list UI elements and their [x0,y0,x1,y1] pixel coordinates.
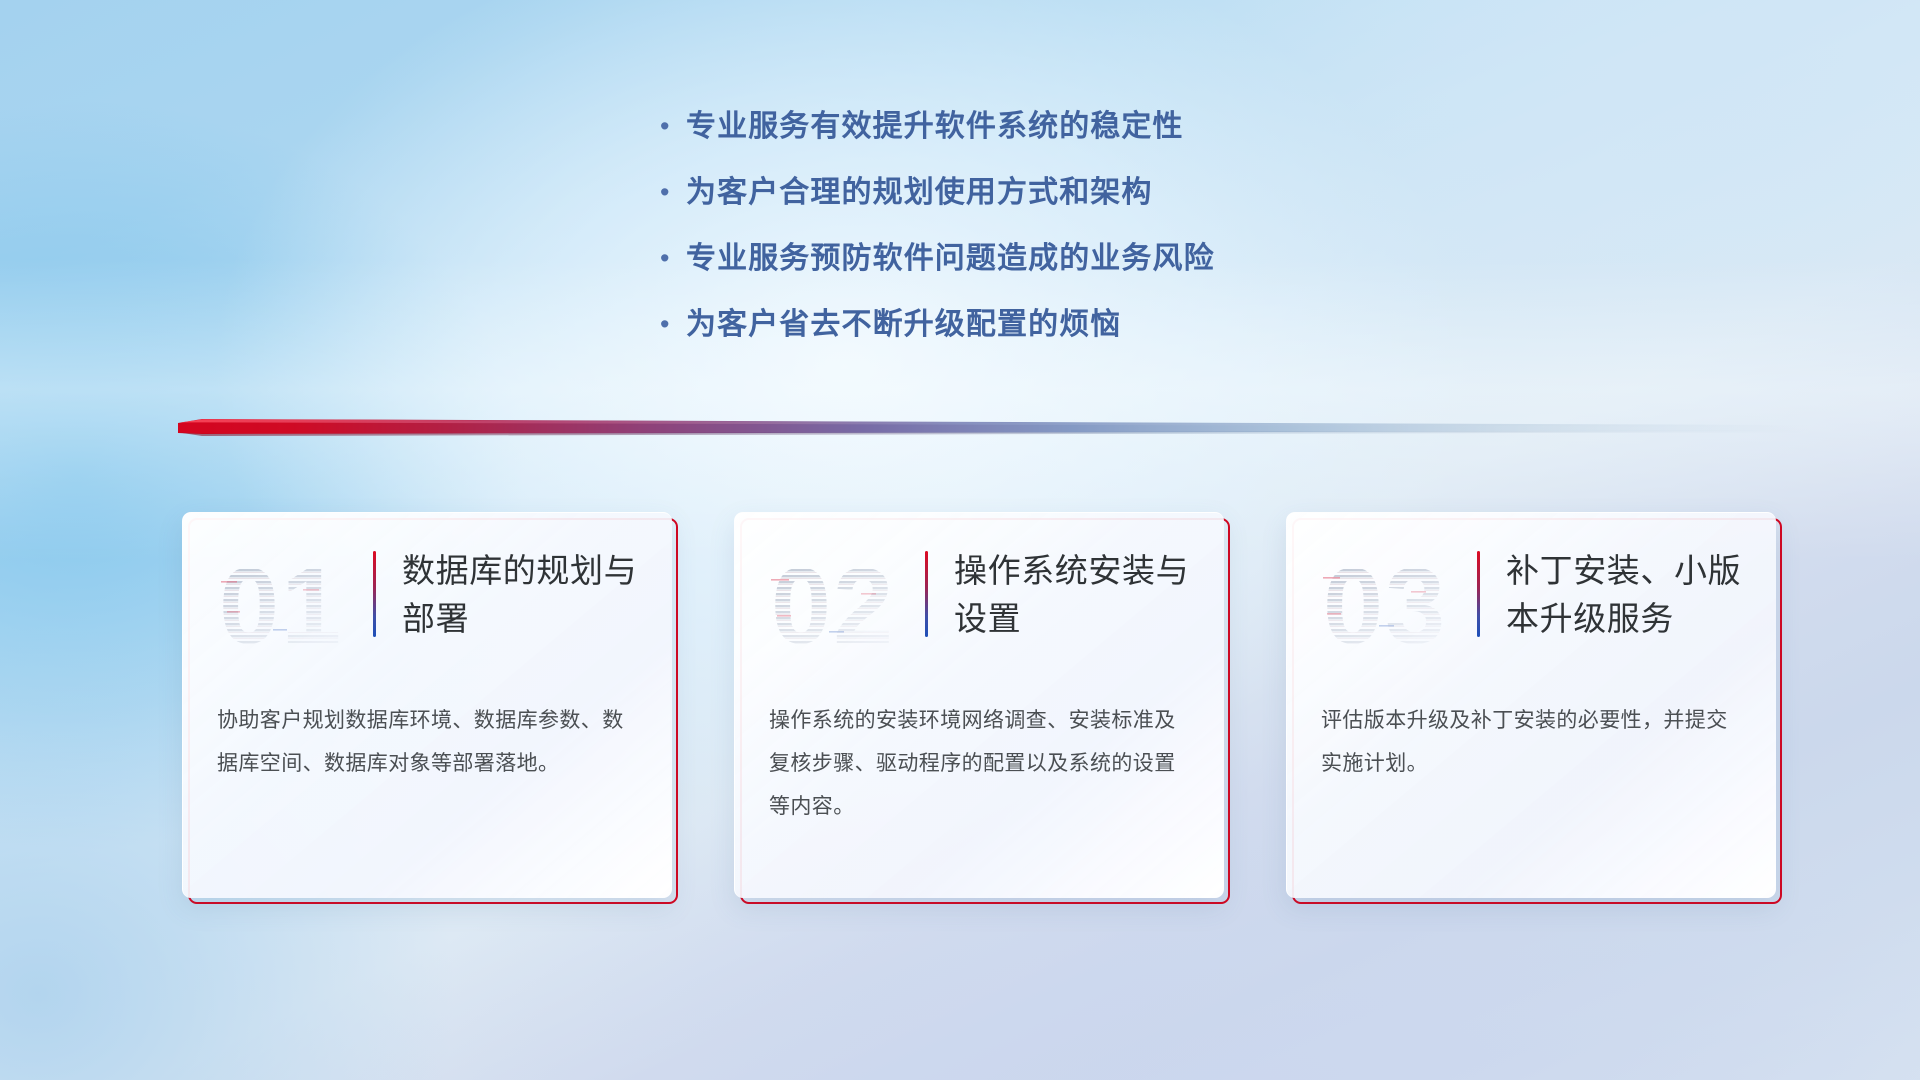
card-header: 03 补丁安装、小版本升级服务 [1321,539,1750,661]
card-body: 02 操作系统安装与设置 操作系统的安装环境网络调查、安装标准及复核步骤、驱动程… [734,512,1224,898]
bullet-dot-icon: • [660,171,686,214]
card-description: 评估版本升级及补丁安装的必要性，并提交实施计划。 [1321,699,1740,785]
striped-numeral-icon: 02 [769,545,915,661]
bullet-item: • 专业服务有效提升软件系统的稳定性 [660,105,1560,148]
striped-numeral-icon: 01 [217,545,363,661]
bullet-item-label: 为客户合理的规划使用方式和架构 [686,171,1153,214]
bullet-dot-icon: • [660,105,686,148]
card-accent-rule [373,551,376,637]
card-title: 补丁安装、小版本升级服务 [1506,539,1750,643]
section-divider [178,418,1808,446]
divider-graphic [178,418,1808,446]
card-header: 01 数据库的规划与部署 [217,539,646,661]
card-body: 01 数据库的规划与部署 协助客户规划数据库环境、数据库参数、数据库空间、数据库… [182,512,672,898]
card-header: 02 操作系统安装与设置 [769,539,1198,661]
bullet-item-label: 为客户省去不断升级配置的烦恼 [686,303,1121,346]
card-title: 操作系统安装与设置 [954,539,1198,643]
service-card-list: 01 数据库的规划与部署 协助客户规划数据库环境、数据库参数、数据库空间、数据库… [182,512,1782,912]
card-description: 协助客户规划数据库环境、数据库参数、数据库空间、数据库对象等部署落地。 [217,699,636,785]
bullet-item-label: 专业服务有效提升软件系统的稳定性 [686,105,1184,148]
card-body: 03 补丁安装、小版本升级服务 评估版本升级及补丁安装的必要性，并提交实施计划。 [1286,512,1776,898]
service-card[interactable]: 02 操作系统安装与设置 操作系统的安装环境网络调查、安装标准及复核步骤、驱动程… [734,512,1230,904]
card-title: 数据库的规划与部署 [402,539,646,643]
svg-text:01: 01 [219,545,343,661]
card-accent-rule [1477,551,1480,637]
bullet-list: • 专业服务有效提升软件系统的稳定性 • 为客户合理的规划使用方式和架构 • 专… [660,105,1560,369]
card-accent-rule [925,551,928,637]
bullet-item: • 为客户省去不断升级配置的烦恼 [660,303,1560,346]
bullet-item-label: 专业服务预防软件问题造成的业务风险 [686,237,1215,280]
service-card[interactable]: 01 数据库的规划与部署 协助客户规划数据库环境、数据库参数、数据库空间、数据库… [182,512,678,904]
slide-root: • 专业服务有效提升软件系统的稳定性 • 为客户合理的规划使用方式和架构 • 专… [0,0,1920,1080]
svg-text:03: 03 [1323,545,1447,661]
card-number-badge: 02 [769,545,915,661]
bullet-item: • 专业服务预防软件问题造成的业务风险 [660,237,1560,280]
striped-numeral-icon: 03 [1321,545,1467,661]
card-number-badge: 01 [217,545,363,661]
bullet-dot-icon: • [660,237,686,280]
card-number-badge: 03 [1321,545,1467,661]
bullet-item: • 为客户合理的规划使用方式和架构 [660,171,1560,214]
card-description: 操作系统的安装环境网络调查、安装标准及复核步骤、驱动程序的配置以及系统的设置等内… [769,699,1188,828]
service-card[interactable]: 03 补丁安装、小版本升级服务 评估版本升级及补丁安装的必要性，并提交实施计划。 [1286,512,1782,904]
svg-text:02: 02 [771,545,895,661]
bullet-dot-icon: • [660,303,686,346]
